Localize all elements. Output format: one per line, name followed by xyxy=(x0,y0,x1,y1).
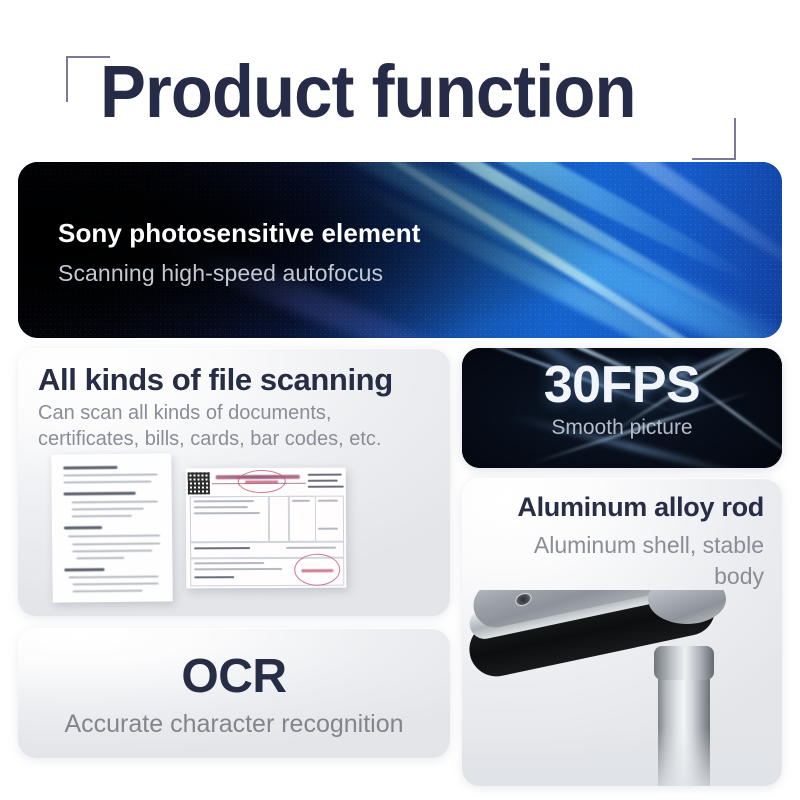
ocr-subheading: Accurate character recognition xyxy=(18,708,450,740)
invoice-qr-code-icon xyxy=(188,472,210,494)
product-function-page: Product function Sony photosensitive ele… xyxy=(0,0,800,800)
hero-text-block: Sony photosensitive element Scanning hig… xyxy=(58,216,420,290)
invoice-seal-top-icon xyxy=(238,470,286,493)
hero-heading: Sony photosensitive element xyxy=(58,216,420,250)
hero-subheading: Scanning high-speed autofocus xyxy=(58,256,420,290)
sample-document-page xyxy=(51,453,173,602)
card-file-scanning: All kinds of file scanning Can scan all … xyxy=(18,348,450,616)
fps-text-block: 30FPS Smooth picture xyxy=(462,356,782,442)
file-scanning-heading: All kinds of file scanning xyxy=(38,362,393,398)
invoice-seal-bottom-icon xyxy=(294,554,340,586)
card-aluminum-alloy-rod: Aluminum alloy rod Aluminum shell, stabl… xyxy=(462,478,782,786)
product-photo-floor-shadow xyxy=(462,728,782,786)
file-scanning-subheading: Can scan all kinds of documents, certifi… xyxy=(38,400,438,452)
hero-banner-sony-sensor: Sony photosensitive element Scanning hig… xyxy=(18,162,782,338)
aluminum-subheading: Aluminum shell, stable body xyxy=(478,530,764,592)
product-rod-joint xyxy=(654,646,714,680)
product-lens-icon xyxy=(513,591,533,609)
ocr-heading: OCR xyxy=(18,650,450,704)
card-30fps: 30FPS Smooth picture xyxy=(462,348,782,468)
aluminum-heading: Aluminum alloy rod xyxy=(517,492,764,523)
page-title: Product function xyxy=(100,52,695,132)
fps-subheading: Smooth picture xyxy=(462,414,782,442)
file-scanning-sample-images xyxy=(18,452,450,616)
card-ocr: OCR Accurate character recognition xyxy=(18,628,450,758)
fps-heading: 30FPS xyxy=(462,356,782,414)
page-title-section: Product function xyxy=(0,18,800,146)
sample-invoice xyxy=(186,468,347,589)
aluminum-product-photo xyxy=(462,590,782,786)
corner-bracket-bottom-right-icon xyxy=(692,118,736,160)
